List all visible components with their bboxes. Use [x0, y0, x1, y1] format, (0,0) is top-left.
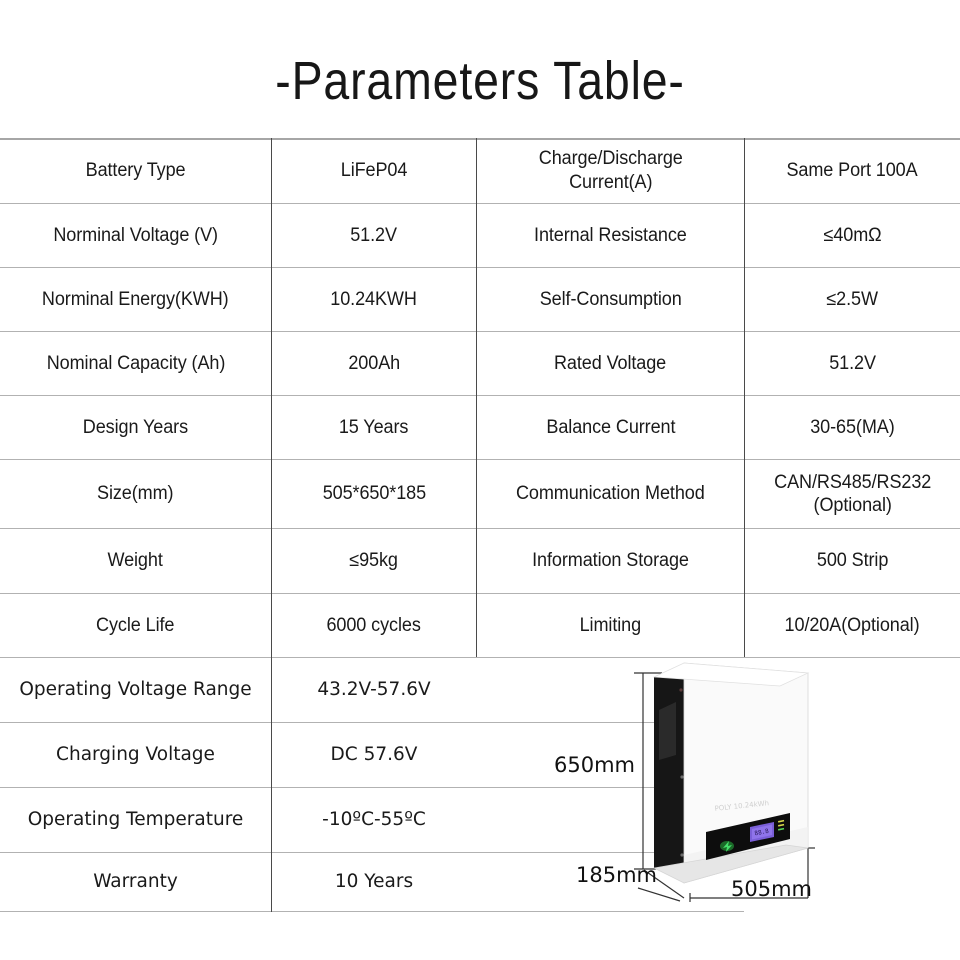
table-row: Operating Voltage Range — [0, 658, 271, 722]
cell-label: Limiting — [580, 614, 641, 637]
table-cell: 6000 cycles — [272, 594, 476, 657]
cell-label: Nominal Capacity (Ah) — [46, 352, 225, 375]
cell-value: 43.2V-57.6V — [317, 679, 430, 702]
page-title: -Parameters Table- — [67, 46, 893, 116]
cell-label: Cycle Life — [96, 614, 174, 637]
cell-value: 500 Strip — [817, 549, 888, 572]
cell-value: 51.2V — [829, 352, 876, 375]
cell-label: Warranty — [93, 871, 178, 894]
table-cell: Balance Current — [477, 396, 744, 459]
cell-value: 6000 cycles — [327, 614, 421, 637]
cell-label: Rated Voltage — [554, 352, 666, 375]
table-row: Norminal Energy(KWH) — [0, 268, 271, 331]
cell-value: ≤40mΩ — [823, 224, 881, 247]
table-cell: CAN/RS485/RS232 (Optional) — [745, 460, 960, 528]
table-cell: ≤95kg — [272, 529, 476, 593]
table-cell: DC 57.6V — [272, 723, 476, 787]
table-cell: 43.2V-57.6V — [272, 658, 476, 722]
table-cell: Charge/Discharge Current(A) — [477, 138, 744, 203]
cell-value: 200Ah — [348, 352, 400, 375]
table-cell: ≤40mΩ — [745, 204, 960, 267]
cell-value: 15 Years — [339, 416, 409, 439]
table-cell: Limiting — [477, 594, 744, 657]
table-cell: Self-Consumption — [477, 268, 744, 331]
cell-value: DC 57.6V — [331, 744, 418, 767]
table-cell: 200Ah — [272, 332, 476, 395]
cell-value: CAN/RS485/RS232 (Optional) — [774, 471, 931, 517]
cell-label: Charging Voltage — [56, 744, 215, 767]
table-cell: 10.24KWH — [272, 268, 476, 331]
cell-label: Battery Type — [86, 159, 186, 182]
cell-value: 10 Years — [335, 871, 413, 894]
table-cell: 10/20A(Optional) — [745, 594, 960, 657]
table-cell: Information Storage — [477, 529, 744, 593]
cell-value: 10/20A(Optional) — [785, 614, 920, 637]
cell-label: Charge/Discharge Current(A) — [539, 147, 683, 193]
cell-value: 51.2V — [351, 224, 398, 247]
cell-label: Communication Method — [516, 482, 705, 505]
cell-label: Operating Temperature — [28, 809, 244, 832]
dimension-depth-label: 185mm — [576, 863, 657, 887]
cell-label: Internal Resistance — [534, 224, 687, 247]
battery-side-panel — [654, 663, 684, 883]
table-cell: Internal Resistance — [477, 204, 744, 267]
table-cell: LiFeP04 — [272, 138, 476, 203]
cell-label: Norminal Energy(KWH) — [42, 288, 229, 311]
cell-label: Norminal Voltage (V) — [53, 224, 218, 247]
cell-value: 10.24KWH — [331, 288, 418, 311]
table-cell: Communication Method — [477, 460, 744, 528]
cell-label: Balance Current — [546, 416, 675, 439]
table-cell: ≤2.5W — [745, 268, 960, 331]
cell-label: Information Storage — [532, 549, 689, 572]
table-row: Nominal Capacity (Ah) — [0, 332, 271, 395]
table-row: Size(mm) — [0, 460, 271, 528]
cell-value: 505*650*185 — [322, 482, 425, 505]
table-cell: 500 Strip — [745, 529, 960, 593]
table-row: Battery Type — [0, 138, 271, 203]
cell-label: Operating Voltage Range — [19, 679, 251, 702]
cell-label: Size(mm) — [97, 482, 173, 505]
table-row: Weight — [0, 529, 271, 593]
dimension-height-label: 650mm — [554, 753, 635, 777]
table-row: Cycle Life — [0, 594, 271, 657]
table-row: Charging Voltage — [0, 723, 271, 787]
table-cell: 505*650*185 — [272, 460, 476, 528]
cell-label: Weight — [108, 549, 163, 572]
cell-value: ≤2.5W — [827, 288, 879, 311]
product-illustration: POLY 10.24kWh 88.8 650mm 185mm 505mm — [546, 655, 960, 917]
cell-value: Same Port 100A — [787, 159, 918, 182]
cell-value: ≤95kg — [350, 549, 399, 572]
cell-value: -10ºC-55ºC — [322, 809, 426, 832]
cell-label: Self-Consumption — [540, 288, 682, 311]
table-row: Warranty — [0, 853, 271, 911]
cell-label: Design Years — [83, 416, 188, 439]
cell-value: LiFeP04 — [341, 159, 408, 182]
cell-value: 30-65(MA) — [810, 416, 894, 439]
table-cell: Rated Voltage — [477, 332, 744, 395]
table-cell: 15 Years — [272, 396, 476, 459]
table-cell: 10 Years — [272, 853, 476, 911]
table-cell: 51.2V — [745, 332, 960, 395]
table-cell: -10ºC-55ºC — [272, 788, 476, 852]
battery-vent-slot — [659, 702, 676, 760]
table-cell: 30-65(MA) — [745, 396, 960, 459]
table-cell: Same Port 100A — [745, 138, 960, 203]
table-cell: 51.2V — [272, 204, 476, 267]
table-row: Design Years — [0, 396, 271, 459]
table-row: Norminal Voltage (V) — [0, 204, 271, 267]
table-row: Operating Temperature — [0, 788, 271, 852]
dimension-width-label: 505mm — [731, 877, 812, 901]
